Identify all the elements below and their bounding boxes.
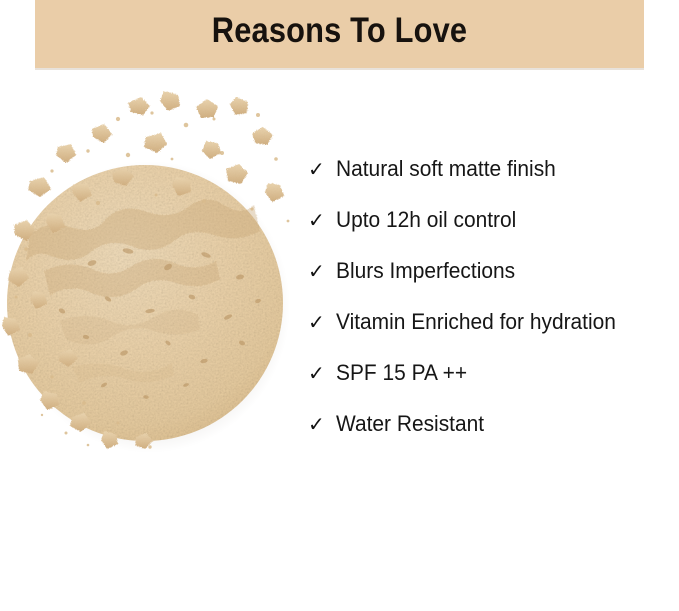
benefit-item: ✓ Natural soft matte finish [308, 158, 668, 209]
benefit-item: ✓ Blurs Imperfections [308, 260, 668, 311]
benefits-list: ✓ Natural soft matte finish ✓ Upto 12h o… [308, 158, 668, 464]
benefit-label: Vitamin Enriched for hydration [336, 311, 616, 334]
product-powder-image [0, 85, 310, 460]
check-icon: ✓ [308, 363, 336, 383]
check-icon: ✓ [308, 312, 336, 332]
check-icon: ✓ [308, 159, 336, 179]
benefit-label: Upto 12h oil control [336, 209, 516, 232]
benefit-label: Water Resistant [336, 413, 484, 436]
powder-illustration [0, 85, 310, 460]
check-icon: ✓ [308, 414, 336, 434]
benefit-item: ✓ Water Resistant [308, 413, 668, 464]
check-icon: ✓ [308, 210, 336, 230]
header-banner: Reasons To Love [35, 0, 644, 68]
benefit-label: SPF 15 PA ++ [336, 362, 467, 385]
benefit-label: Natural soft matte finish [336, 158, 556, 181]
benefit-item: ✓ Upto 12h oil control [308, 209, 668, 260]
benefit-label: Blurs Imperfections [336, 260, 515, 283]
benefit-item: ✓ Vitamin Enriched for hydration [308, 311, 668, 362]
check-icon: ✓ [308, 261, 336, 281]
benefit-item: ✓ SPF 15 PA ++ [308, 362, 668, 413]
page-title: Reasons To Love [72, 11, 608, 51]
